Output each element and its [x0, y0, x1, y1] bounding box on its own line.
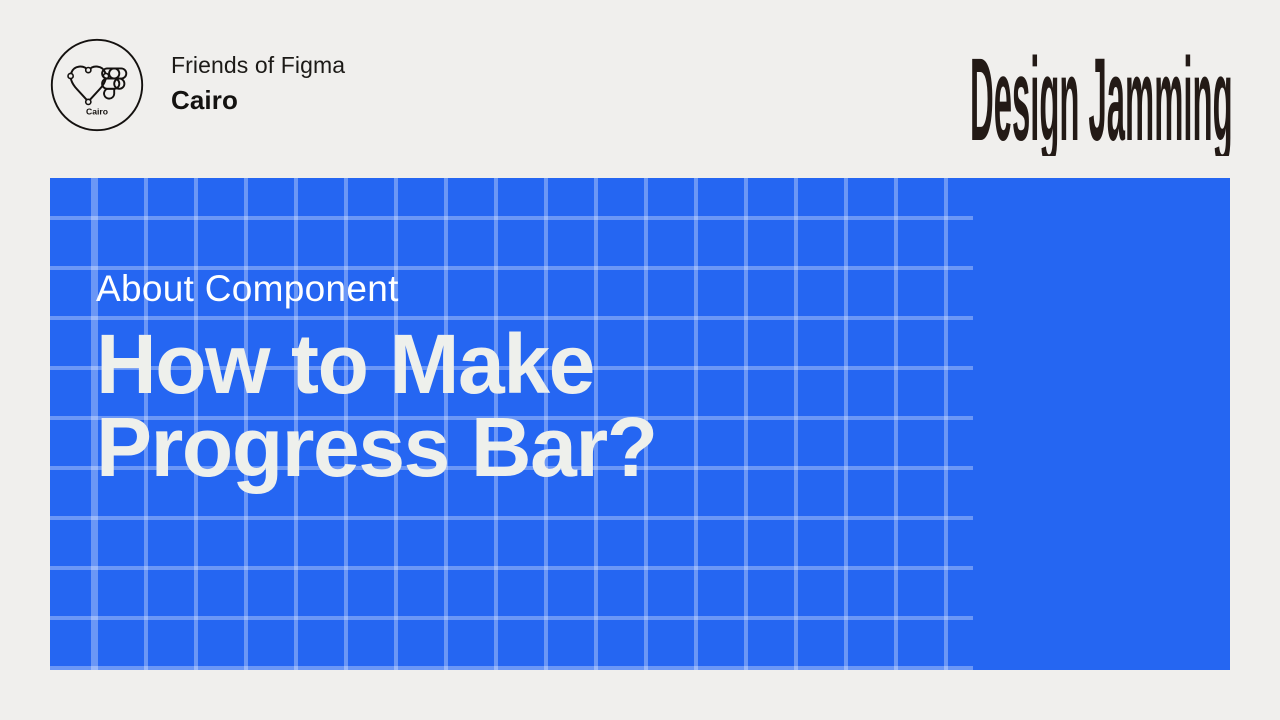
event-logo: Design Jamming [970, 36, 1234, 156]
emblem-caption: Cairo [86, 107, 108, 117]
hero-content: About Component How to Make Progress Bar… [96, 268, 856, 488]
hero-title-line-2: Progress Bar? [96, 406, 856, 488]
hero-panel: About Component How to Make Progress Bar… [50, 178, 1230, 670]
design-jamming-wordmark-icon: Design Jamming [970, 36, 1234, 156]
brand-text: Friends of Figma Cairo [171, 50, 345, 120]
hero-eyebrow: About Component [96, 268, 856, 309]
hero-title-line-1: How to Make [96, 323, 856, 405]
page-header: Cairo Friends of Figma Cairo Design Jamm… [0, 0, 1280, 178]
brand-block: Cairo Friends of Figma Cairo [50, 38, 345, 132]
community-name: Friends of Figma [171, 50, 345, 81]
chapter-name: Cairo [171, 83, 345, 118]
event-logo-text: Design Jamming [970, 36, 1233, 156]
chapter-emblem-icon: Cairo [50, 38, 144, 132]
hero-title: How to Make Progress Bar? [96, 323, 856, 488]
